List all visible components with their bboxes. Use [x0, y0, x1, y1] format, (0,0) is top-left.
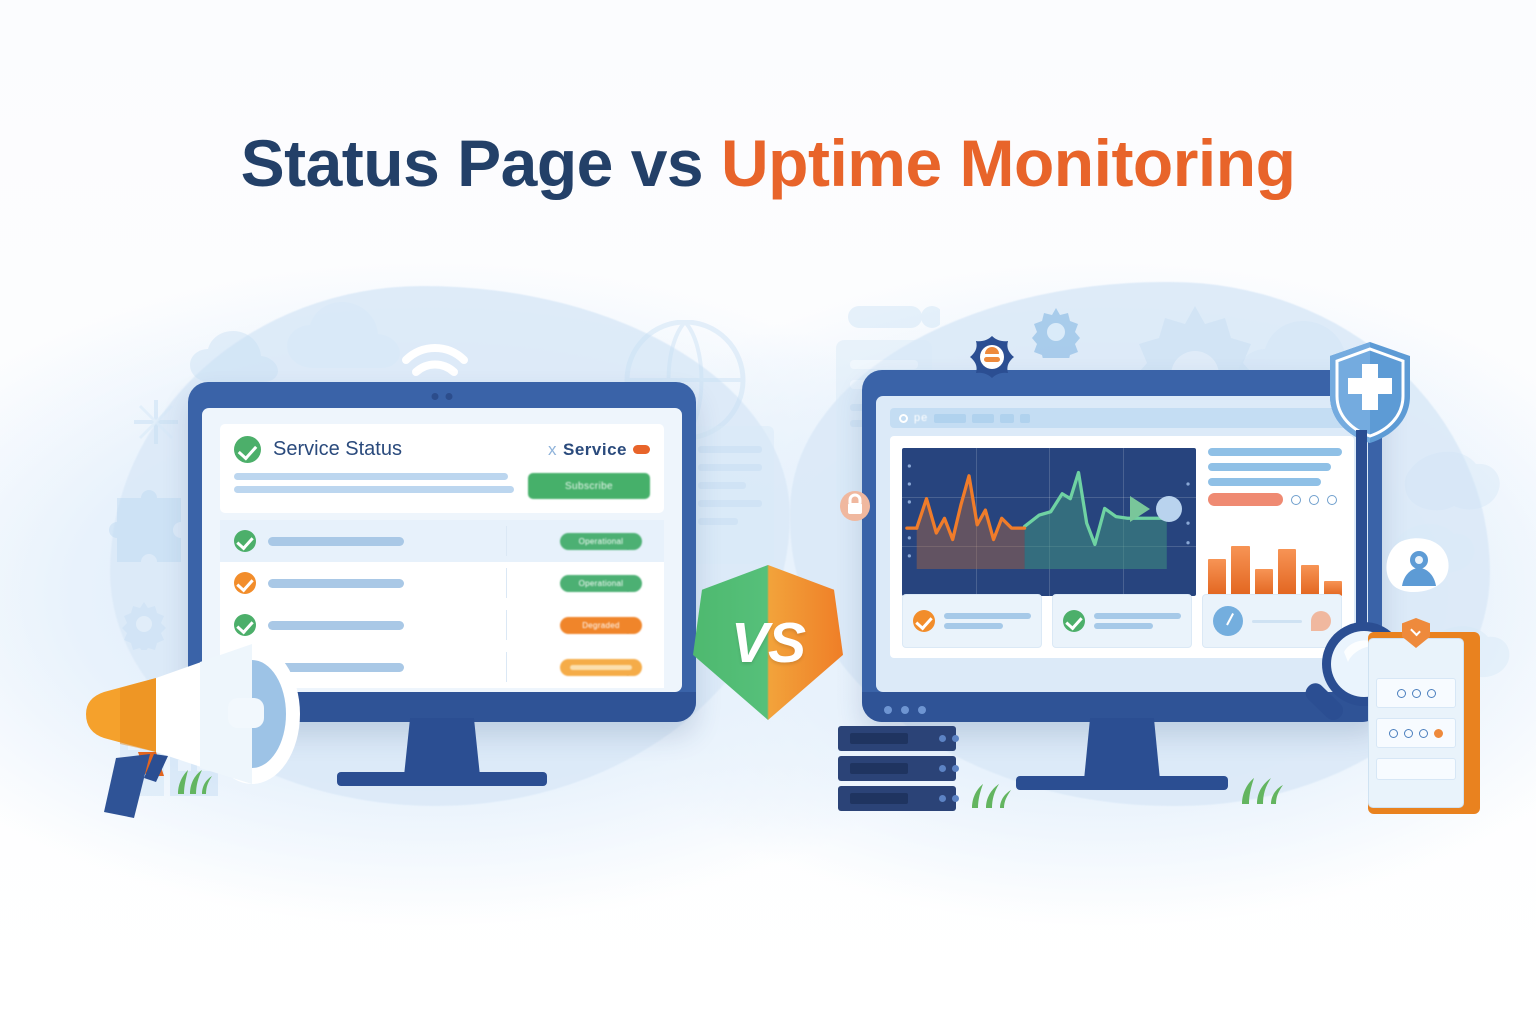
check-circle-icon — [1063, 610, 1085, 632]
status-card[interactable] — [902, 594, 1042, 648]
check-circle-icon — [913, 610, 935, 632]
dashboard-side-panel — [1208, 448, 1342, 506]
row-divider — [506, 568, 507, 598]
monitor-indicator-dots — [884, 706, 926, 714]
title-part-orange: Uptime Monitoring — [721, 126, 1295, 200]
dashboard-body — [890, 436, 1354, 658]
server-unit — [838, 786, 956, 811]
bar — [1231, 546, 1249, 596]
service-status-heading: Service Status — [273, 438, 402, 461]
vs-badge: VS — [693, 565, 843, 720]
url-text: pe — [914, 412, 928, 424]
card-text-placeholder — [944, 609, 1031, 633]
uptime-bar-chart — [1208, 532, 1342, 596]
lock-icon — [840, 488, 870, 524]
alert-badge — [1208, 493, 1283, 506]
service-status-header: Service Status x Service — [234, 436, 650, 463]
bar — [1255, 569, 1273, 596]
status-badge: Operational — [560, 533, 642, 550]
play-triangle-icon — [1130, 496, 1150, 522]
text-line-placeholder — [1208, 463, 1331, 471]
row-divider — [506, 610, 507, 640]
bar — [1278, 549, 1296, 596]
service-name-placeholder — [268, 579, 404, 588]
circle-icon — [1309, 495, 1319, 505]
server-unit — [838, 726, 956, 751]
service-name-placeholder — [268, 537, 404, 546]
row-divider — [506, 526, 507, 556]
connector-line — [1252, 620, 1302, 623]
row-divider — [506, 652, 507, 682]
brand-name: Service — [563, 440, 627, 460]
monitor-base — [1016, 776, 1228, 790]
server-stack-icon — [838, 726, 966, 814]
chart-series — [902, 448, 1196, 569]
text-line-placeholder — [1208, 448, 1342, 456]
status-card-list — [902, 594, 1342, 648]
table-row[interactable]: } Operational — [220, 562, 664, 604]
illustration-canvas: Status Page vs Uptime Monitoring Service… — [0, 0, 1536, 1024]
check-circle-icon — [234, 436, 261, 463]
service-name-placeholder — [268, 621, 404, 630]
page-title: Status Page vs Uptime Monitoring — [0, 125, 1536, 201]
card-text-placeholder — [1094, 609, 1181, 633]
service-status-card: Service Status x Service Subscribe — [220, 424, 664, 513]
vs-badge-label: VS — [693, 565, 843, 720]
server-rack-panel — [1368, 632, 1480, 814]
rack-slot — [1376, 758, 1456, 780]
grass-tuft — [1238, 776, 1284, 809]
status-badge: Degraded — [560, 617, 642, 634]
server-unit — [838, 756, 956, 781]
grass-tuft — [172, 768, 216, 799]
circle-icon — [899, 414, 908, 423]
status-badge — [560, 659, 642, 676]
puzzle-deco-icon — [105, 480, 197, 576]
monitor-camera-dots — [432, 393, 453, 400]
gear-icon — [1030, 306, 1082, 358]
brand-logo: x Service — [548, 440, 650, 460]
brand-dot-icon — [633, 445, 650, 454]
check-circle-icon — [234, 530, 256, 552]
circle-icon — [1327, 495, 1337, 505]
person-badge-icon — [1384, 538, 1454, 594]
monitor-base — [337, 772, 547, 786]
table-row[interactable]: } Operational — [220, 520, 664, 562]
rack-slot — [1376, 718, 1456, 748]
gauge-icon — [1213, 606, 1243, 636]
monitor-neck — [1084, 718, 1160, 780]
bar — [1208, 559, 1226, 596]
brand-x-mark: x — [548, 440, 557, 460]
monitor-neck — [404, 718, 480, 776]
text-line-placeholder — [1208, 478, 1320, 486]
sparkle-deco-icon — [126, 392, 186, 452]
shield-cross-icon — [1326, 340, 1414, 445]
service-status-subheader: Subscribe — [234, 473, 650, 499]
circle-icon — [1291, 495, 1301, 505]
status-card[interactable] — [1052, 594, 1192, 648]
rack-slot — [1376, 678, 1456, 708]
subscribe-button[interactable]: Subscribe — [528, 473, 650, 499]
shield-badge-icon — [966, 334, 1018, 386]
alert-row — [1208, 493, 1342, 506]
placeholder-lines — [234, 473, 514, 499]
check-circle-icon — [234, 572, 256, 594]
uptime-line-chart — [902, 448, 1196, 596]
grass-tuft — [968, 782, 1014, 813]
uptime-screen: pe — [876, 396, 1368, 692]
browser-address-bar[interactable]: pe — [890, 408, 1354, 428]
status-badge: Operational — [560, 575, 642, 592]
check-circle-icon — [234, 614, 256, 636]
title-part-navy: Status Page vs — [241, 126, 721, 200]
bar — [1301, 565, 1319, 596]
